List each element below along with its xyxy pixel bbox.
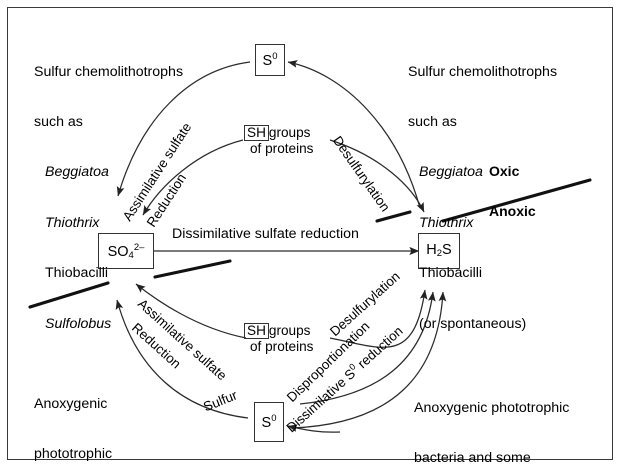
sh-box-lower: SH: [244, 323, 269, 339]
bottom-right-line2: bacteria and some: [414, 450, 569, 467]
top-right-line5: Thiobacilli: [408, 265, 557, 282]
zone-label-anoxic: Anoxic: [489, 203, 536, 219]
node-sulfur-top-label: S0: [263, 51, 278, 69]
sh-groups-upper-line2: of proteins: [244, 141, 313, 156]
bottom-right-line1: Anoxygenic phototrophic: [414, 400, 569, 417]
node-sulfur-bottom-label: S0: [262, 413, 277, 431]
top-right-line2: such as: [408, 114, 557, 131]
sh-groups-lower: SHgroups of proteins: [244, 323, 313, 354]
top-left-line1: Sulfur chemolithotrophs: [34, 64, 183, 81]
text-block-bottom-right: Anoxygenic phototrophic bacteria and som…: [414, 366, 569, 469]
sh-groups-lower-word: groups: [269, 323, 311, 338]
bottom-left-line1: Anoxygenic: [34, 396, 112, 413]
zone-label-oxic: Oxic: [489, 163, 519, 179]
node-sulfur-top: S0: [255, 44, 285, 76]
text-block-top-right: Sulfur chemolithotrophs such as Beggiato…: [408, 30, 557, 366]
top-right-line6: (or spontaneous): [408, 316, 557, 333]
text-block-bottom-left: Anoxygenic phototrophic bacteria: [34, 362, 112, 469]
figure-canvas: S0 S0 SO42– H2S SHgroups of proteins SHg…: [0, 0, 622, 469]
label-dissimilative-sulfate-reduction: Dissimilative sulfate reduction: [172, 226, 359, 242]
top-left-line2: such as: [34, 114, 183, 131]
node-sulfur-bottom: S0: [254, 402, 284, 442]
top-left-line5: Thiobacilli: [34, 265, 183, 282]
top-right-line3: Beggiatoa: [408, 164, 557, 181]
sh-groups-lower-line2: of proteins: [244, 339, 313, 354]
top-right-line1: Sulfur chemolithotrophs: [408, 64, 557, 81]
sh-box-upper: SH: [244, 125, 269, 141]
sh-groups-upper-word: groups: [269, 125, 311, 140]
bottom-left-line2: phototrophic: [34, 446, 112, 463]
sh-groups-upper: SHgroups of proteins: [244, 125, 313, 156]
